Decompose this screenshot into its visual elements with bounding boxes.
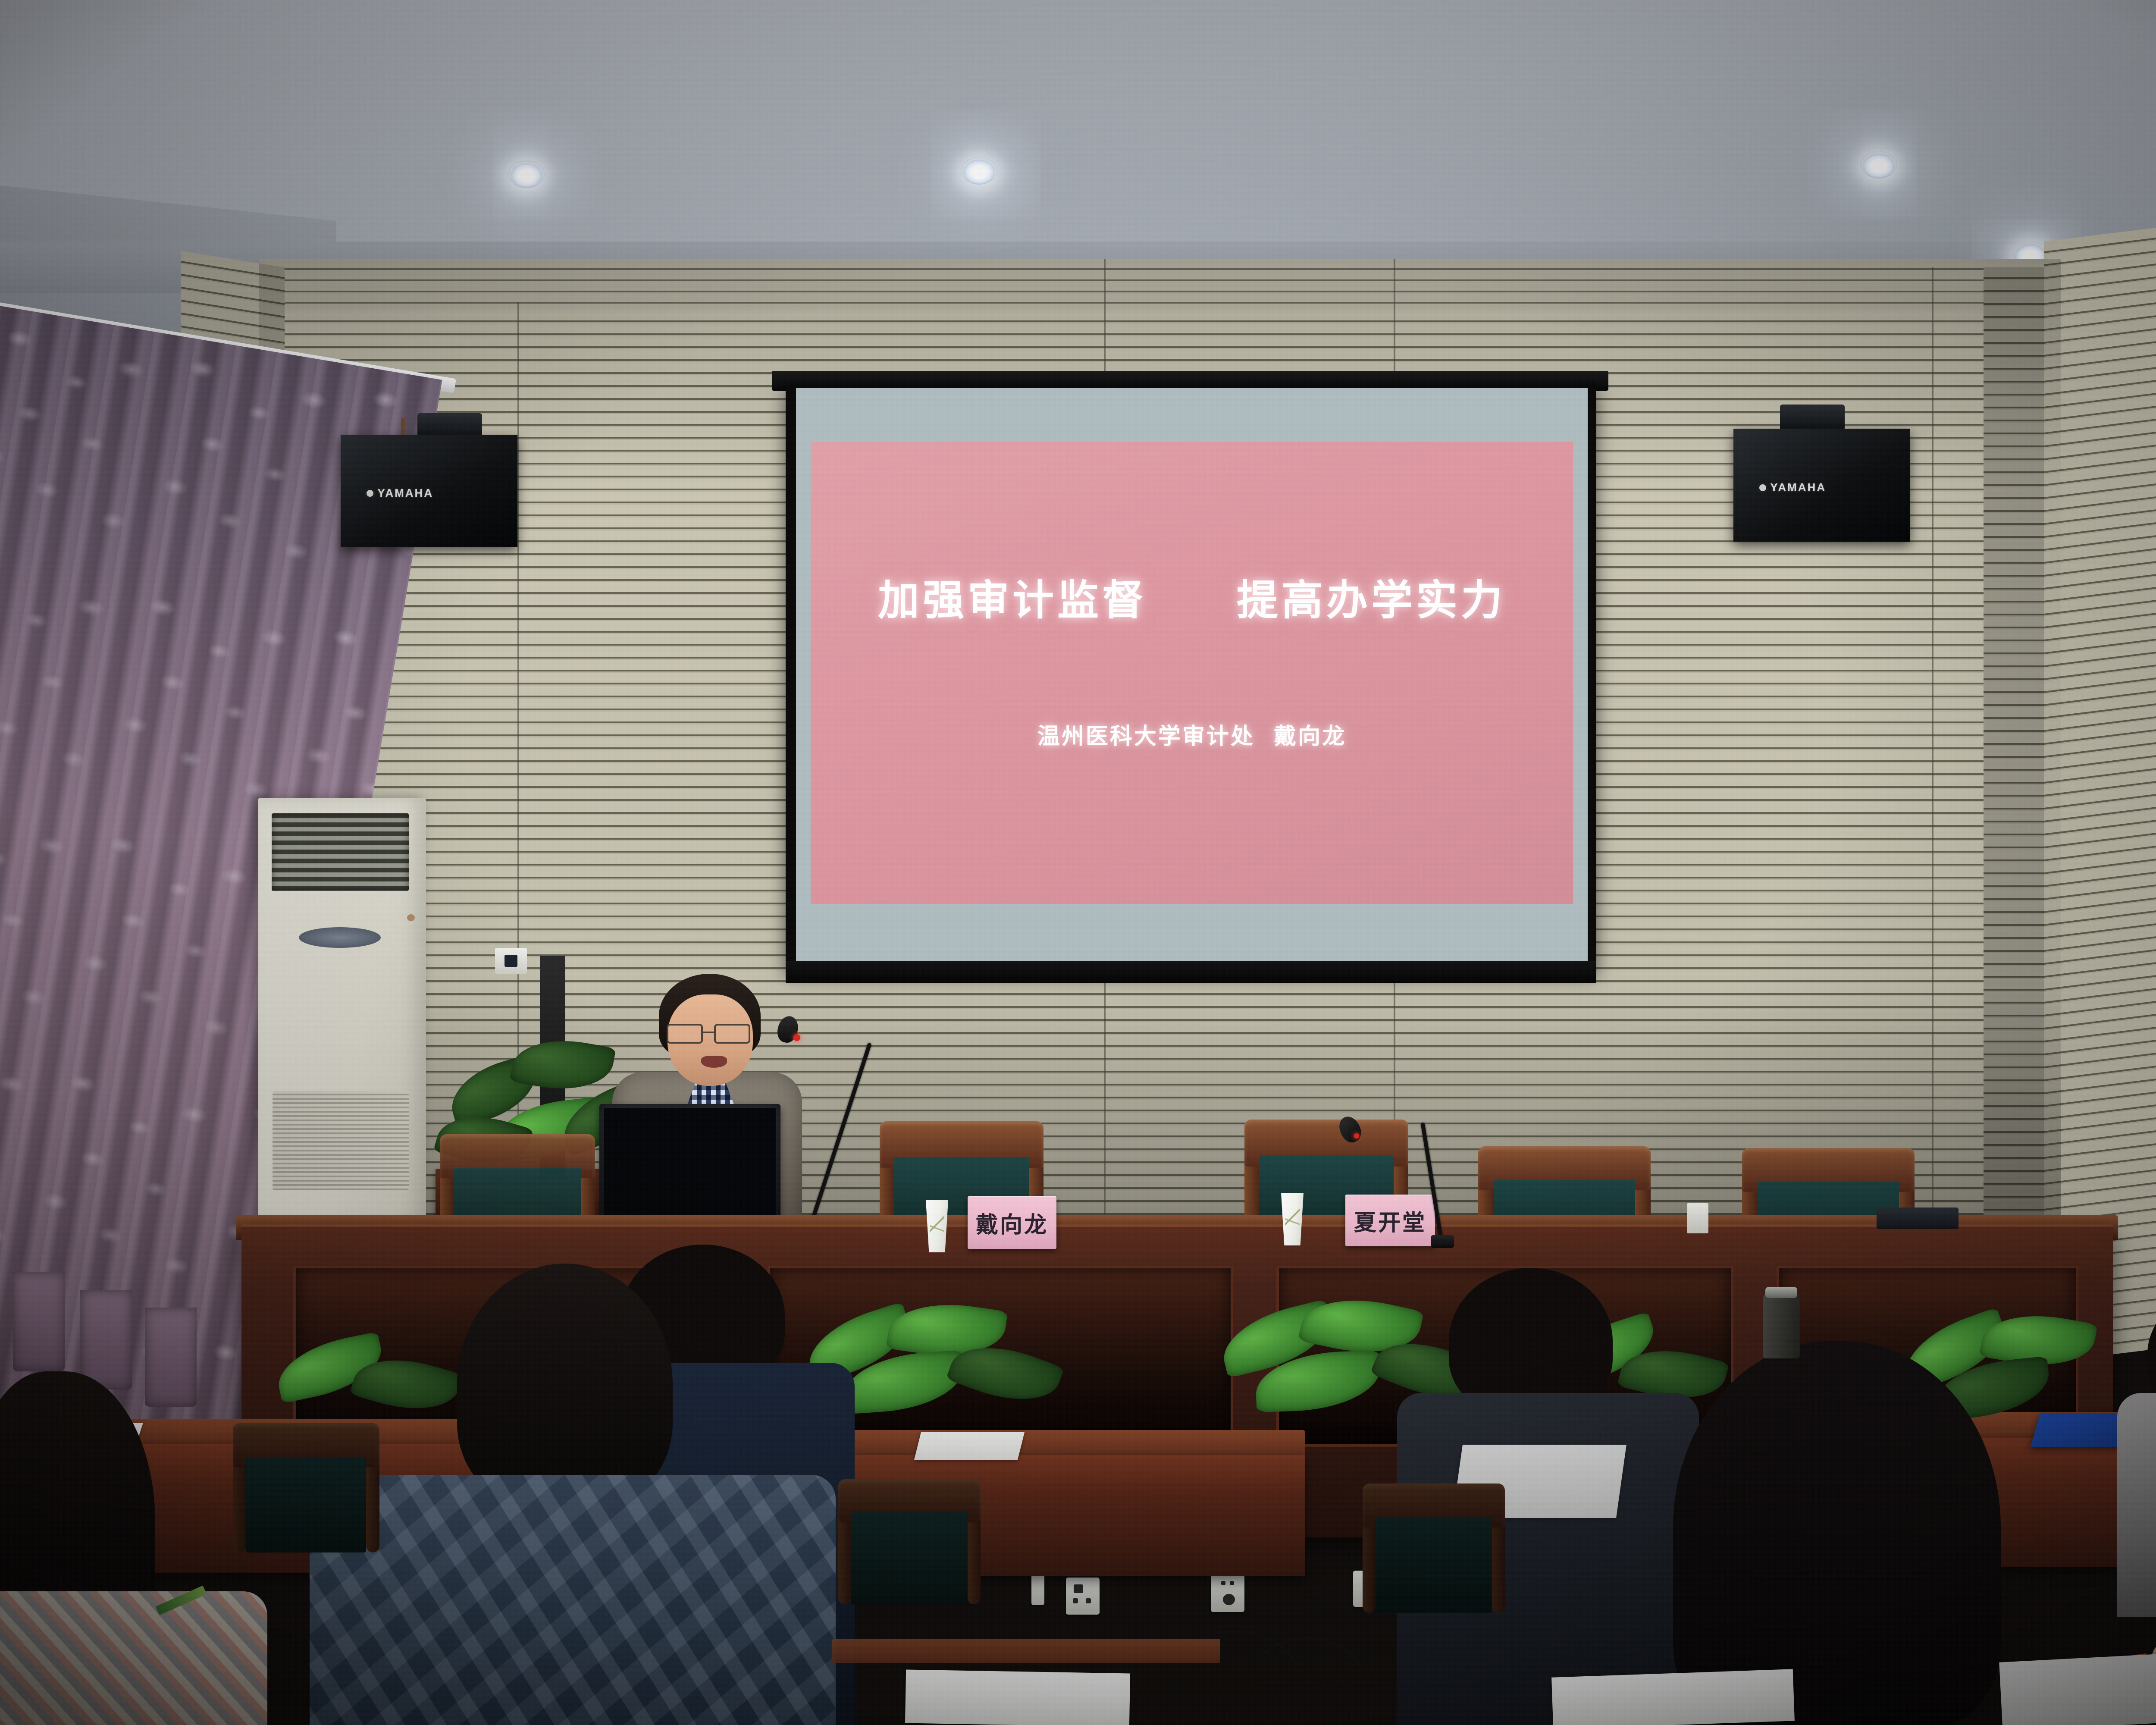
curtain-tassel [80,1290,132,1389]
slide-title: 加强审计监督 提高办学实力 [878,567,1506,627]
conference-room-photo: YAMAHA YAMAHA 加强审计监督 提高办学实力 温州医科大学审计处 戴向… [0,0,2156,1725]
chair[interactable] [233,1423,379,1552]
projection-screen-bottom-bar [786,961,1596,983]
nameplate-dai-xianglong: 戴向龙 [968,1196,1056,1249]
speaker-bracket [1780,405,1845,430]
paper-sheet [1999,1650,2156,1725]
thermos-bottle[interactable] [1763,1294,1800,1358]
curtain-tassel [13,1272,65,1371]
wall-speaker-right: YAMAHA [1733,429,1910,542]
wall-speaker-left: YAMAHA [341,435,517,547]
curtain-tassel [145,1308,197,1407]
chair[interactable] [838,1479,981,1604]
presenter-mouth [701,1056,727,1068]
wall-seam [1932,267,1934,1285]
chair[interactable] [1363,1483,1505,1613]
wall-plate[interactable] [495,948,527,974]
ceiling-light-icon [963,160,995,185]
yamaha-logo-icon: YAMAHA [1758,481,1826,494]
slide-subtitle: 温州医科大学审计处 戴向龙 [1037,718,1346,750]
power-outlet[interactable] [1211,1575,1244,1612]
ac-intake-grille [273,1091,409,1190]
microphone-base [1431,1235,1454,1248]
ac-louver-vent [272,813,409,891]
microphone-led [1354,1133,1359,1138]
audience-desk [832,1639,1220,1663]
power-outlet[interactable] [1066,1578,1100,1615]
glasses-icon [667,1024,756,1044]
table-device[interactable] [1877,1207,1959,1229]
microphone-led [793,1034,800,1041]
ceiling-light-icon [511,163,542,188]
table-paper-card [1687,1203,1708,1233]
laptop-screen [604,1108,776,1226]
presentation-slide: 加强审计监督 提高办学实力 温州医科大学审计处 戴向龙 [811,442,1573,904]
yamaha-logo-icon: YAMAHA [365,486,433,500]
ac-brand-badge [299,927,381,948]
paper-sheet [1551,1669,1795,1725]
laptop[interactable] [599,1104,780,1233]
paper-sheet [914,1432,1025,1460]
wall-upper-band [259,259,2061,310]
paper-sheet [905,1669,1130,1725]
ceiling-light-icon [1863,154,1895,179]
right-wall-panelling [2044,210,2156,1363]
ac-indicator [407,914,415,921]
nameplate-xia-kaitang: 夏开堂 [1345,1195,1435,1246]
